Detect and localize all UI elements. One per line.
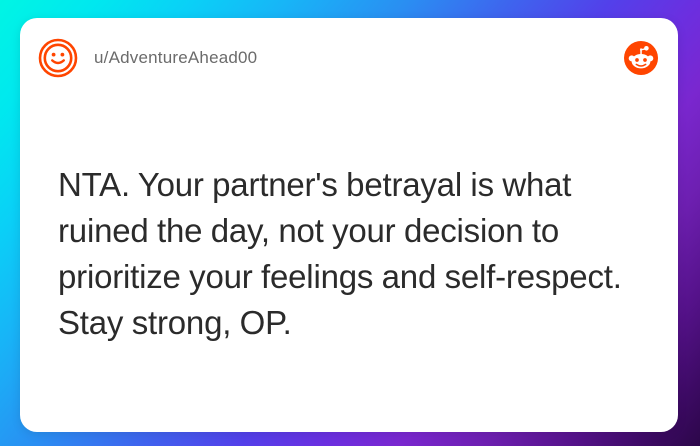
smiley-avatar-icon xyxy=(38,38,78,78)
reddit-snoo-icon xyxy=(624,41,658,75)
comment-header: u/AdventureAhead00 xyxy=(20,18,678,98)
screenshot-root: u/AdventureAhead00 xyxy=(0,0,700,446)
username-label: u/AdventureAhead00 xyxy=(94,48,257,68)
comment-text: NTA. Your partner's betrayal is what rui… xyxy=(58,162,638,346)
reddit-logo[interactable] xyxy=(624,41,658,75)
avatar[interactable] xyxy=(38,38,78,78)
reddit-comment-card: u/AdventureAhead00 xyxy=(20,18,678,432)
